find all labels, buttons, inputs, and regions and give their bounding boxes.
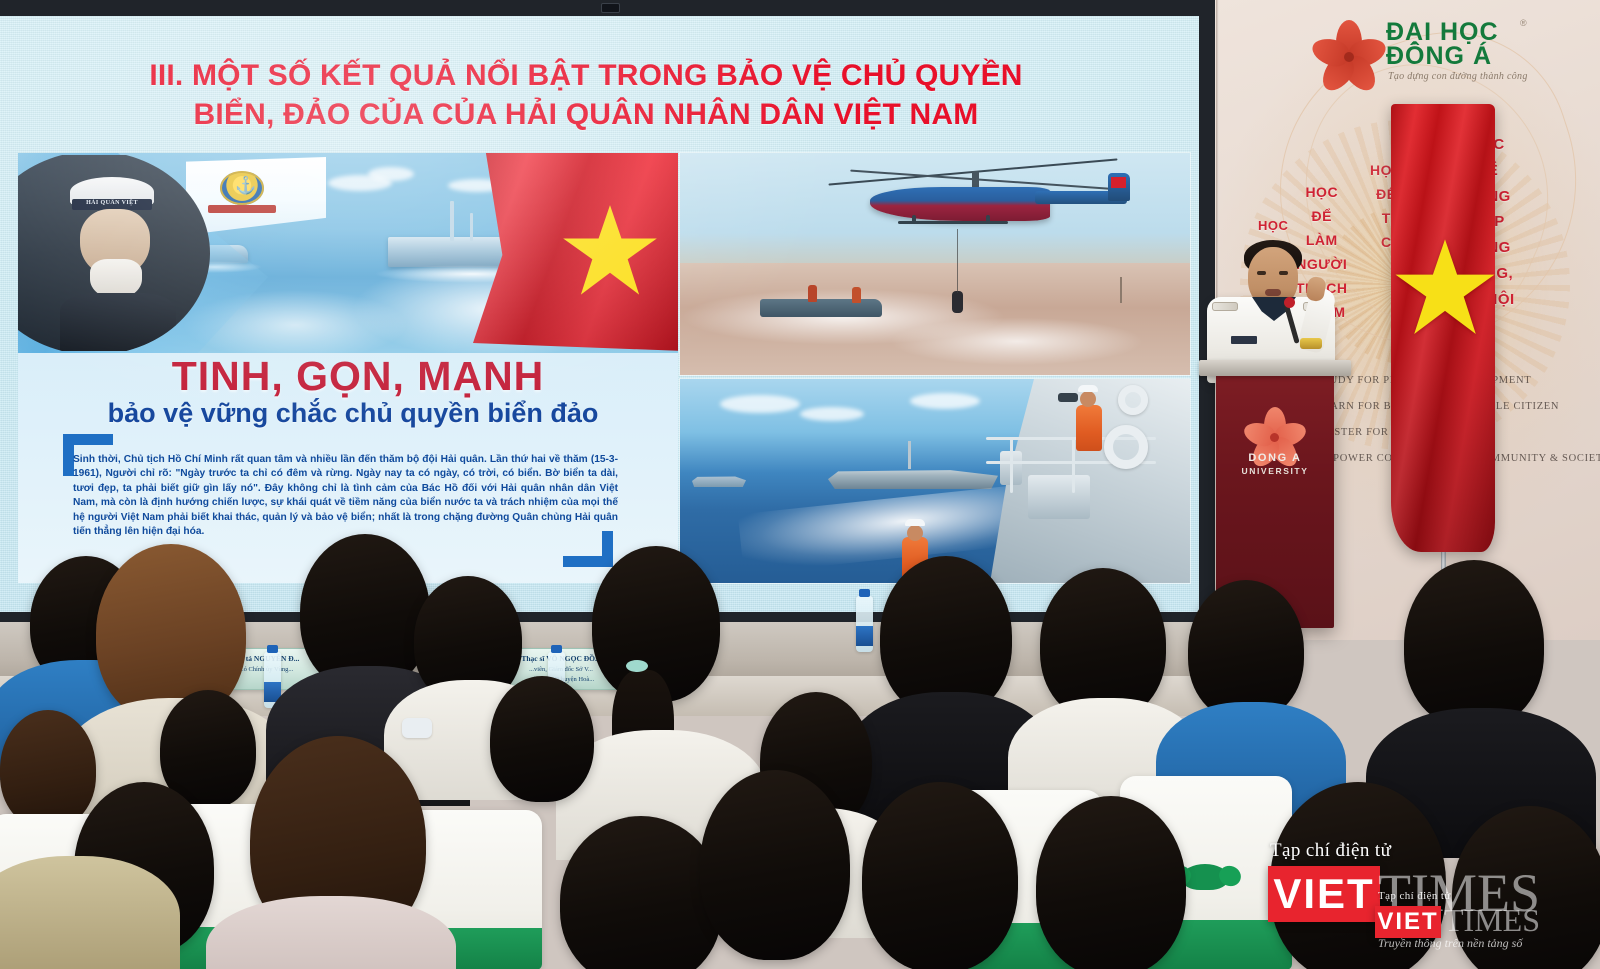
podium-name: DONG A: [1216, 452, 1334, 464]
watermark-brand-grey-small: TIMES: [1444, 902, 1540, 939]
speaker-epaulet-left: [1212, 302, 1238, 311]
floodwater: [680, 263, 1190, 375]
watermark-brand-red: VIET: [1268, 866, 1380, 922]
life-ring-icon-2: [1118, 385, 1148, 415]
podium-desktop: [1199, 360, 1351, 376]
rescuer-2: [852, 287, 861, 303]
anchor-icon: ⚓: [235, 177, 256, 194]
audience-head: [1036, 796, 1186, 969]
logo-registered-mark: ®: [1520, 18, 1527, 28]
logo-line-2: ĐÔNG Á: [1386, 42, 1492, 71]
hair-scrunchie: [626, 660, 648, 672]
ensign-ribbon: [208, 205, 276, 213]
dong-a-logo: ĐẠI HỌC ® ĐÔNG Á Tạo dựng con đường thàn…: [1300, 14, 1590, 94]
microphone-head: [1284, 297, 1295, 308]
naval-cap-label: HẢI QUÂN VIỆT: [72, 200, 152, 206]
helicopter-body: [870, 187, 1050, 221]
speaker-nameplate: [1231, 336, 1257, 344]
face-mask: [402, 718, 432, 738]
watermark-tagline: Truyền thông trên nền tảng số: [1378, 936, 1522, 951]
helicopter-rescue-photo: [680, 153, 1190, 375]
distant-vessel: [692, 475, 746, 487]
patrol-vessel: [828, 467, 998, 489]
podium-flower-icon: [1254, 407, 1296, 449]
audience-head: [862, 782, 1018, 969]
watermark-kicker: Tạp chí điện tử: [1270, 840, 1391, 862]
speaker-insignia-badge: [1300, 338, 1322, 349]
slide-collage: ⚓ HẢI QUÂN VIỆT: [18, 153, 1190, 583]
navy-ensign-flag: ⚓: [186, 157, 326, 235]
life-ring-icon: [1104, 425, 1148, 469]
watermark-kicker-small: Tạp chí điện tử: [1378, 890, 1451, 902]
audience-head: [1188, 580, 1304, 720]
slide-slogan-sub: bảo vệ vững chắc chủ quyền biển đảo: [58, 398, 648, 429]
logo-tagline: Tạo dựng con đường thành công: [1388, 71, 1528, 82]
audience-head: [0, 710, 96, 828]
podium-subtitle: UNIVERSITY: [1216, 466, 1334, 476]
rescue-boat: [760, 299, 882, 317]
audience-head: [1404, 560, 1544, 728]
slide-slogan-main: TINH, GỌN, MẠNH: [108, 353, 608, 400]
lookout-sailor: [1076, 405, 1102, 451]
hoisted-person: [952, 291, 963, 313]
slide-flag-star-icon: [558, 201, 662, 305]
backdrop-slogan-column-1: HỌC: [1258, 215, 1288, 237]
audience-head: [700, 770, 850, 960]
logo-flower-icon: [1314, 20, 1384, 90]
rescuer-1: [808, 285, 817, 302]
slide-title: III. MỘT SỐ KẾT QUẢ NỔI BẬT TRONG BẢO VỆ…: [56, 56, 1116, 134]
chair-bow: [1182, 864, 1228, 890]
audience-head: [490, 676, 594, 802]
camera-icon: [601, 3, 620, 13]
watermark-brand-red-small: VIET: [1375, 906, 1441, 938]
slide-left-panel: ⚓ HẢI QUÂN VIỆT: [18, 153, 678, 583]
screenshot-root: HỌC HỌC ĐỂ LÀM NGƯỜI TRÁCH NHIỆM HỌC ĐỂ …: [0, 0, 1600, 969]
